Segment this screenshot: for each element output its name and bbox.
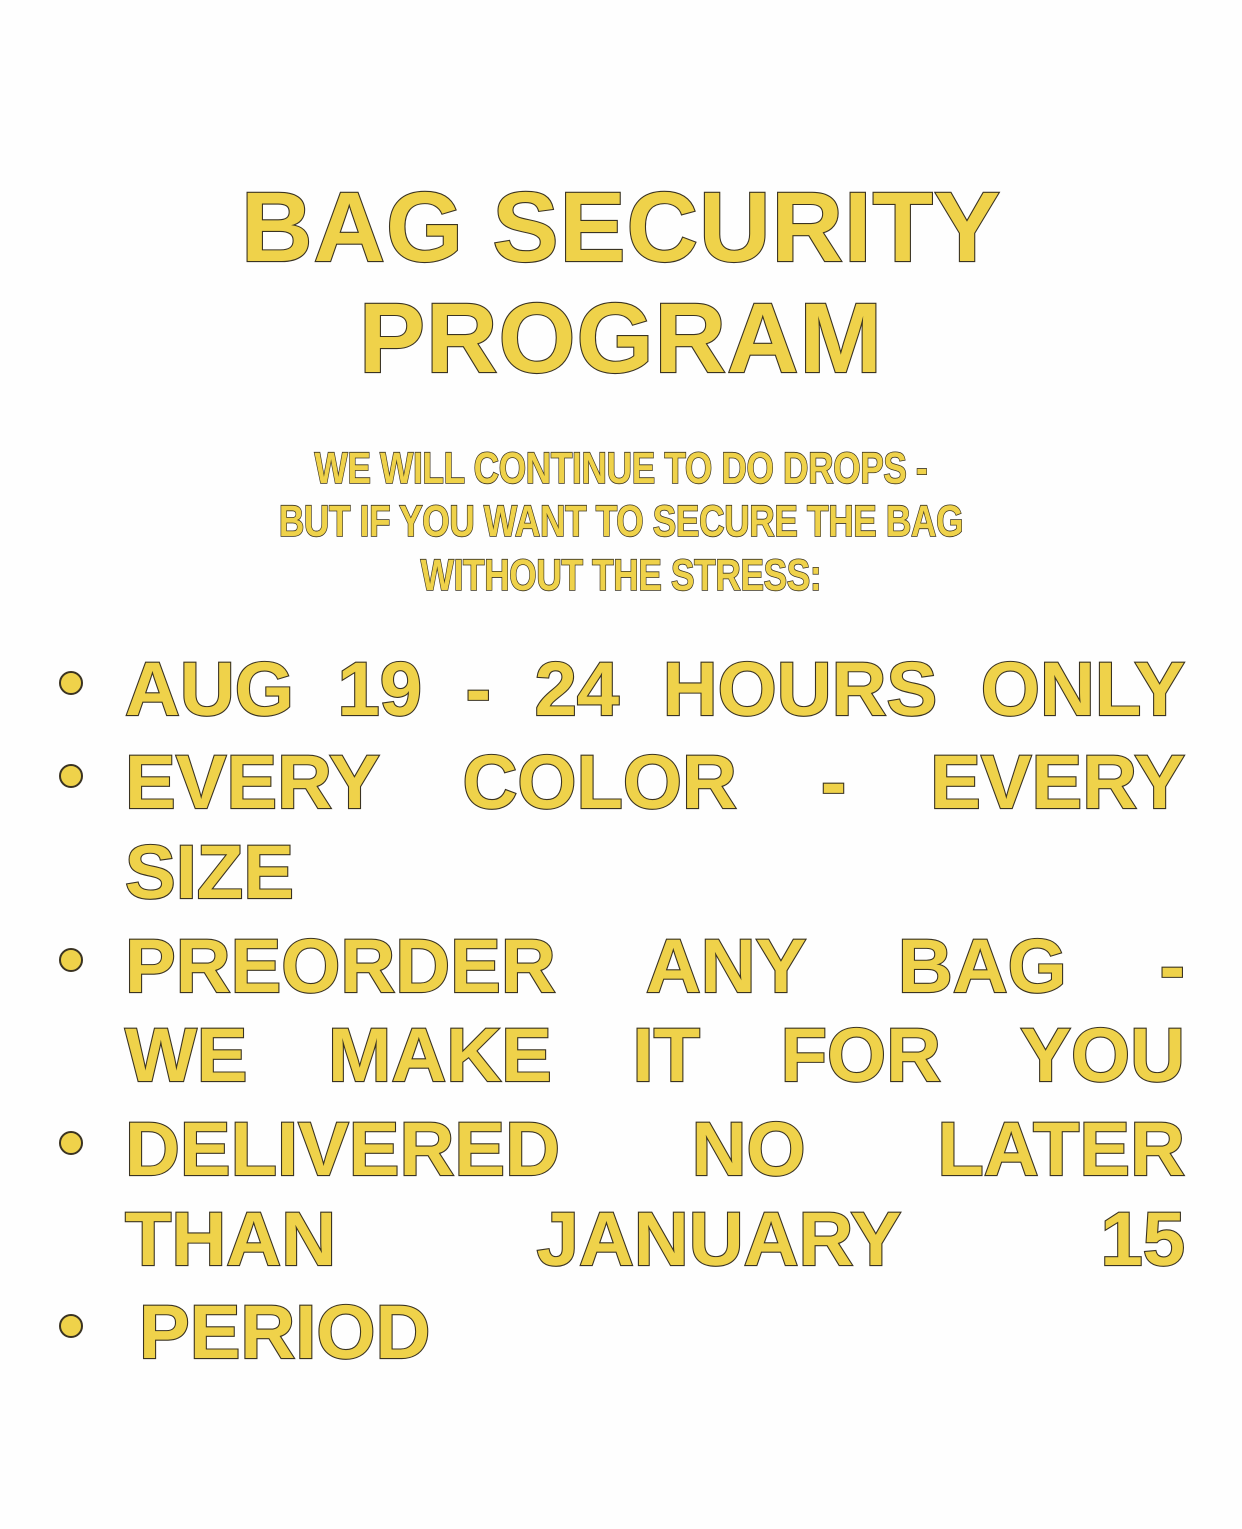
list-item-line: DELIVERED NO LATER: [125, 1105, 1185, 1195]
title-line-1: BAG SECURITY: [0, 172, 1242, 283]
list-item-line: THAN JANUARY 15: [125, 1195, 1185, 1285]
list-item-line: WE MAKE IT FOR YOU: [125, 1011, 1185, 1101]
list-item-line: AUG 19 - 24 HOURS ONLY: [125, 645, 1185, 735]
list-item-line: EVERY COLOR - EVERY SIZE: [125, 738, 1185, 917]
list-item: PREORDER ANY BAG - WE MAKE IT FOR YOU: [57, 922, 1185, 1101]
list-item: EVERY COLOR - EVERY SIZE: [57, 738, 1185, 917]
list-item: DELIVERED NO LATER THAN JANUARY 15: [57, 1105, 1185, 1284]
title-line-2: PROGRAM: [0, 283, 1242, 394]
poster-canvas: BAG SECURITY PROGRAM WE WILL CONTINUE TO…: [0, 0, 1242, 1529]
subtitle-line-1: WE WILL CONTINUE TO DO DROPS -: [124, 442, 1118, 496]
bullet-dot-icon: [59, 764, 83, 788]
subtitle: WE WILL CONTINUE TO DO DROPS - BUT IF YO…: [0, 442, 1242, 603]
bullet-dot-icon: [59, 1131, 83, 1155]
bullet-dot-icon: [59, 671, 83, 695]
bullet-dot-icon: [59, 948, 83, 972]
list-item-line: PERIOD: [125, 1288, 1185, 1378]
subtitle-line-2: BUT IF YOU WANT TO SECURE THE BAG: [124, 495, 1118, 549]
list-item: AUG 19 - 24 HOURS ONLY: [57, 645, 1185, 735]
page-title: BAG SECURITY PROGRAM: [0, 0, 1242, 394]
list-item: PERIOD: [57, 1288, 1185, 1378]
subtitle-line-3: WITHOUT THE STRESS:: [124, 549, 1118, 603]
bullet-dot-icon: [59, 1314, 83, 1338]
bullet-list: AUG 19 - 24 HOURS ONLY EVERY COLOR - EVE…: [0, 645, 1242, 1378]
list-item-line: PREORDER ANY BAG -: [125, 922, 1185, 1012]
